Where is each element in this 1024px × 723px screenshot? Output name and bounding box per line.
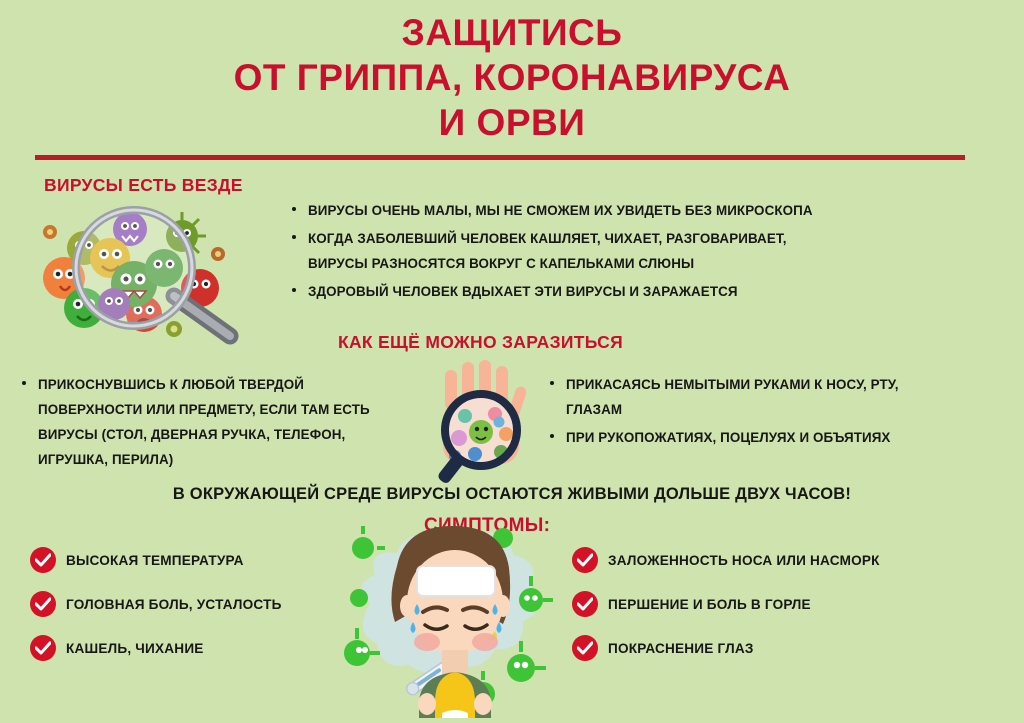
symptom-item: ПОКРАСНЕНИЕ ГЛАЗ xyxy=(572,635,972,661)
symptom-label: ПОКРАСНЕНИЕ ГЛАЗ xyxy=(608,641,754,656)
symptom-item: ЗАЛОЖЕННОСТЬ НОСА ИЛИ НАСМОРК xyxy=(572,547,972,573)
check-icon xyxy=(572,635,598,661)
symptom-list-right: ЗАЛОЖЕННОСТЬ НОСА ИЛИ НАСМОРК ПЕРШЕНИЕ И… xyxy=(572,547,972,679)
title-divider xyxy=(35,155,965,160)
list-item: ПРИКАСАЯСЬ НЕМЫТЫМИ РУКАМИ К НОСУ, РТУ, … xyxy=(548,372,968,422)
list-item-line-1: ВИРУСЫ ОЧЕНЬ МАЛЫ, МЫ НЕ СМОЖЕМ ИХ УВИДЕ… xyxy=(308,203,813,218)
symptom-label: ЗАЛОЖЕННОСТЬ НОСА ИЛИ НАСМОРК xyxy=(608,553,880,568)
check-icon xyxy=(30,547,56,573)
symptom-label: ГОЛОВНАЯ БОЛЬ, УСТАЛОСТЬ xyxy=(66,597,282,612)
symptom-item: КАШЕЛЬ, ЧИХАНИЕ xyxy=(30,635,330,661)
bullet-list-viruses-everywhere: ВИРУСЫ ОЧЕНЬ МАЛЫ, МЫ НЕ СМОЖЕМ ИХ УВИДЕ… xyxy=(290,198,990,307)
list-item-line-1: ПРИ РУКОПОЖАТИЯХ, ПОЦЕЛУЯХ И ОБЪЯТИЯХ xyxy=(566,430,890,445)
magnifying-glass-germs-icon xyxy=(22,196,272,356)
symptom-label: ПЕРШЕНИЕ И БОЛЬ В ГОРЛЕ xyxy=(608,597,811,612)
symptom-item: ВЫСОКАЯ ТЕМПЕРАТУРА xyxy=(30,547,330,573)
bullet-dot xyxy=(292,235,296,239)
list-item-line-2: ГЛАЗАМ xyxy=(566,397,968,422)
symptom-item: ПЕРШЕНИЕ И БОЛЬ В ГОРЛЕ xyxy=(572,591,972,617)
list-item-line-1: ЗДОРОВЫЙ ЧЕЛОВЕК ВДЫХАЕТ ЭТИ ВИРУСЫ И ЗА… xyxy=(308,284,738,299)
symptom-item: ГОЛОВНАЯ БОЛЬ, УСТАЛОСТЬ xyxy=(30,591,330,617)
list-item-line-2: ПОВЕРХНОСТИ ИЛИ ПРЕДМЕТУ, ЕСЛИ ТАМ ЕСТЬ xyxy=(38,397,410,422)
list-item: ПРИКОСНУВШИСЬ К ЛЮБОЙ ТВЕРДОЙ ПОВЕРХНОСТ… xyxy=(20,372,410,472)
list-item: ЗДОРОВЫЙ ЧЕЛОВЕК ВДЫХАЕТ ЭТИ ВИРУСЫ И ЗА… xyxy=(290,279,990,304)
title-line-3: И ОРВИ xyxy=(0,100,1024,145)
environment-survival-note: В ОКРУЖАЮЩЕЙ СРЕДЕ ВИРУСЫ ОСТАЮТСЯ ЖИВЫМ… xyxy=(0,485,1024,504)
check-icon xyxy=(572,547,598,573)
heading-how-else-infect: КАК ЕЩЁ МОЖНО ЗАРАЗИТЬСЯ xyxy=(338,332,623,353)
list-item: КОГДА ЗАБОЛЕВШИЙ ЧЕЛОВЕК КАШЛЯЕТ, ЧИХАЕТ… xyxy=(290,226,990,276)
list-item-line-3: ВИРУСЫ (СТОЛ, ДВЕРНАЯ РУЧКА, ТЕЛЕФОН, xyxy=(38,422,410,447)
bullet-list-how-else-right: ПРИКАСАЯСЬ НЕМЫТЫМИ РУКАМИ К НОСУ, РТУ, … xyxy=(548,372,968,453)
symptom-label: КАШЕЛЬ, ЧИХАНИЕ xyxy=(66,641,204,656)
check-icon xyxy=(572,591,598,617)
list-item-line-2: ВИРУСЫ РАЗНОСЯТСЯ ВОКРУГ С КАПЕЛЬКАМИ СЛ… xyxy=(308,251,990,276)
list-item-line-4: ИГРУШКА, ПЕРИЛА) xyxy=(38,447,410,472)
hand-with-magnifier-icon xyxy=(415,358,550,488)
list-item: ПРИ РУКОПОЖАТИЯХ, ПОЦЕЛУЯХ И ОБЪЯТИЯХ xyxy=(548,425,968,450)
bullet-dot xyxy=(22,381,26,385)
list-item-line-1: КОГДА ЗАБОЛЕВШИЙ ЧЕЛОВЕК КАШЛЯЕТ, ЧИХАЕТ… xyxy=(308,231,787,246)
poster-title: ЗАЩИТИСЬ ОТ ГРИППА, КОРОНАВИРУСА И ОРВИ xyxy=(0,0,1024,145)
check-icon xyxy=(30,591,56,617)
infographic-poster: ЗАЩИТИСЬ ОТ ГРИППА, КОРОНАВИРУСА И ОРВИ … xyxy=(0,0,1024,718)
heading-viruses-everywhere: ВИРУСЫ ЕСТЬ ВЕЗДЕ xyxy=(44,175,243,196)
list-item: ВИРУСЫ ОЧЕНЬ МАЛЫ, МЫ НЕ СМОЖЕМ ИХ УВИДЕ… xyxy=(290,198,990,223)
symptom-list-left: ВЫСОКАЯ ТЕМПЕРАТУРА ГОЛОВНАЯ БОЛЬ, УСТАЛ… xyxy=(30,547,330,679)
bullet-dot xyxy=(550,434,554,438)
list-item-line-1: ПРИКОСНУВШИСЬ К ЛЮБОЙ ТВЕРДОЙ xyxy=(38,377,304,392)
title-line-1: ЗАЩИТИСЬ xyxy=(0,10,1024,55)
bullet-dot xyxy=(292,207,296,211)
symptom-label: ВЫСОКАЯ ТЕМПЕРАТУРА xyxy=(66,553,244,568)
list-item-line-1: ПРИКАСАЯСЬ НЕМЫТЫМИ РУКАМИ К НОСУ, РТУ, xyxy=(566,377,899,392)
sick-boy-icon xyxy=(335,508,575,718)
bullet-list-how-else-left: ПРИКОСНУВШИСЬ К ЛЮБОЙ ТВЕРДОЙ ПОВЕРХНОСТ… xyxy=(20,372,410,475)
bullet-dot xyxy=(550,381,554,385)
check-icon xyxy=(30,635,56,661)
title-line-2: ОТ ГРИППА, КОРОНАВИРУСА xyxy=(0,55,1024,100)
bullet-dot xyxy=(292,288,296,292)
